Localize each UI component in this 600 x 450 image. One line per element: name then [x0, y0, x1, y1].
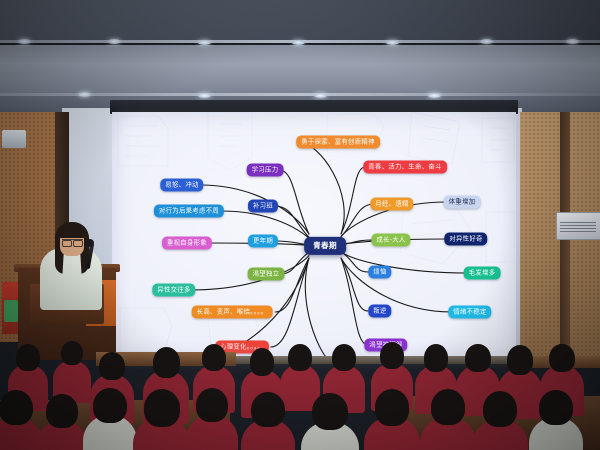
- mindmap-edge: [341, 258, 452, 312]
- mindmap-node: 体重增加: [444, 195, 481, 208]
- mindmap-node: 勇于探索、富有创新精神: [296, 135, 380, 148]
- mindmap-node: 补习班: [248, 199, 278, 212]
- mindmap-node: 渴望独立: [248, 267, 285, 280]
- mindmap-node: 更年期: [248, 234, 278, 247]
- ceiling-spotlight: [198, 93, 211, 98]
- audience-head: [202, 344, 226, 371]
- ceiling-panel-middle: [0, 45, 600, 93]
- ceiling-spotlight: [314, 93, 327, 98]
- mindmap-node: 对行为后果考虑不周: [154, 204, 224, 217]
- mindmap-center-node: 青春期: [304, 237, 346, 255]
- mindmap-node: 易怒、冲动: [160, 178, 203, 191]
- fire-extinguisher-label: [4, 300, 18, 322]
- audience-head: [0, 390, 33, 426]
- audience-head: [250, 348, 275, 376]
- ceiling-spotlight: [78, 92, 91, 97]
- mindmap-node: 毛发增多: [464, 266, 501, 279]
- ceiling-spotlight: [480, 39, 493, 44]
- audience-head: [424, 344, 449, 372]
- mindmap-edge: [279, 170, 309, 234]
- audience-head: [465, 344, 490, 373]
- ceiling-spotlight: [18, 39, 31, 44]
- ceiling-spotlight: [566, 39, 579, 44]
- projection-screen: 青春期勇于探索、富有创新精神学习压力补习班更年期渴望独立长高、变声、喉结。。。。…: [112, 112, 516, 360]
- mindmap-node: 成长-大人: [371, 233, 410, 246]
- audience-head: [507, 345, 533, 374]
- mindmap-node: 情绪不稳定: [448, 305, 491, 318]
- audience-head: [549, 344, 574, 373]
- ceiling-spotlight: [198, 40, 211, 45]
- audience-head: [251, 392, 285, 428]
- mindmap-edge: [275, 258, 309, 312]
- mindmap-edge: [341, 258, 368, 311]
- mindmap-edge: [298, 142, 344, 234]
- microphone-head: [86, 239, 94, 247]
- audience-head: [153, 347, 180, 378]
- audience-head: [483, 391, 517, 427]
- audience-head: [288, 344, 311, 371]
- mindmap-node: 青春、活力、生命、奋斗: [363, 160, 447, 173]
- audience-head: [380, 342, 404, 369]
- mindmap-node: 长高、变声、喉结。。。。: [192, 305, 273, 318]
- ceiling-spotlight: [108, 39, 121, 44]
- audience-head: [196, 388, 228, 422]
- mindmap-node: 月经、遗精: [370, 197, 413, 210]
- ceiling-spotlight: [292, 40, 305, 45]
- audience-head: [144, 389, 180, 427]
- wall-speaker: [2, 130, 26, 148]
- ceiling-spotlight: [428, 93, 441, 98]
- audience-head: [312, 393, 347, 430]
- mindmap-edge: [305, 258, 339, 360]
- mindmap-node: 重视自身形象: [162, 236, 212, 249]
- audience-head: [539, 390, 572, 425]
- audience-head: [332, 344, 356, 371]
- presenter-fringe: [57, 224, 87, 238]
- air-conditioner-vents: [560, 222, 596, 232]
- audience-head: [99, 352, 125, 381]
- audience-head: [93, 388, 127, 424]
- mindmap-node: 烦恼: [368, 265, 391, 278]
- mindmap-edge: [341, 167, 365, 234]
- audience-head: [46, 394, 78, 428]
- ceiling-spotlight: [386, 40, 399, 45]
- ceiling-panel-upper: [0, 0, 600, 42]
- presenter-glasses: [62, 239, 83, 245]
- screenshot-scene: 青春期勇于探索、富有创新精神学习压力补习班更年期渴望独立长高、变声、喉结。。。。…: [0, 0, 600, 450]
- audience-head: [431, 389, 465, 425]
- mindmap-node: 异性交往多: [152, 283, 195, 296]
- mindmap-node: 学习压力: [247, 163, 284, 176]
- presenter-torso: [40, 248, 102, 310]
- audience-head: [16, 344, 39, 371]
- mindmap-node: 对异性好奇: [444, 232, 487, 245]
- audience-head: [375, 389, 410, 426]
- mindmap-node: 叛逆: [368, 304, 391, 317]
- mindmap-slide: 青春期勇于探索、富有创新精神学习压力补习班更年期渴望独立长高、变声、喉结。。。。…: [112, 112, 516, 360]
- audience-head: [61, 341, 83, 365]
